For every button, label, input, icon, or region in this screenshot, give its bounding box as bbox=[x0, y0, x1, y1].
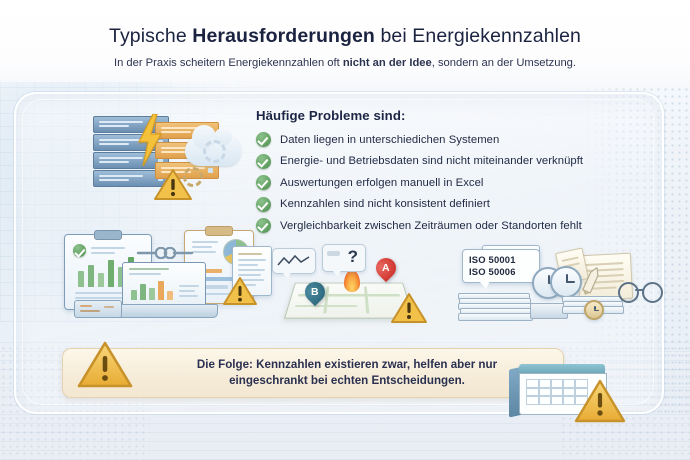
title-emphasis: Herausforderungen bbox=[192, 25, 375, 47]
lightning-bolt-icon bbox=[137, 114, 163, 171]
header: Typische Herausforderungen bei Energieke… bbox=[0, 0, 690, 69]
map-pin-a-label: A bbox=[382, 262, 390, 274]
glasses-icon bbox=[618, 282, 664, 302]
iso-standard-2: ISO 50006 bbox=[469, 266, 533, 278]
subtitle-post: , sondern an der Umsetzung. bbox=[432, 57, 576, 69]
clipboard-clip bbox=[205, 226, 233, 236]
consequence-callout-text: Die Folge: Kennzahlen existieren zwar, h… bbox=[145, 357, 549, 390]
medal-icon bbox=[584, 300, 604, 320]
page-subtitle: In der Praxis scheitern Energiekennzahle… bbox=[0, 57, 690, 69]
list-item: Kennzahlen sind nicht konsistent definie… bbox=[256, 197, 656, 212]
title-pre: Typische bbox=[109, 25, 192, 47]
warning-triangle-icon bbox=[222, 276, 258, 307]
warning-triangle-icon bbox=[153, 168, 193, 202]
iso-standard-1: ISO 50001 bbox=[469, 254, 533, 266]
infographic-canvas: Typische Herausforderungen bei Energieke… bbox=[0, 0, 690, 460]
check-circle-icon bbox=[73, 244, 86, 257]
speech-bubble-question: ? bbox=[322, 244, 366, 272]
map-comparison-illustration: B A ? bbox=[272, 244, 432, 330]
warning-triangle-icon bbox=[390, 292, 428, 325]
iso-callout-card: ISO 50001 ISO 50006 bbox=[462, 249, 540, 283]
chain-link-icon bbox=[134, 246, 196, 258]
list-item-label: Auswertungen erfolgen manuell in Excel bbox=[280, 177, 483, 189]
question-mark-label: ? bbox=[348, 247, 358, 267]
list-item: Auswertungen erfolgen manuell in Excel bbox=[256, 175, 656, 190]
list-item: Energie- und Betriebsdaten sind nicht mi… bbox=[256, 154, 656, 169]
page-title: Typische Herausforderungen bei Energieke… bbox=[0, 25, 690, 48]
list-item-label: Kennzahlen sind nicht konsistent definie… bbox=[280, 198, 490, 210]
problem-list: Häufige Probleme sind: Daten liegen in u… bbox=[256, 108, 656, 240]
subtitle-emphasis: nicht an der Idee bbox=[343, 57, 432, 69]
list-item: Daten liegen in unterschiedichen Systeme… bbox=[256, 132, 656, 147]
laptop-screen bbox=[122, 262, 206, 306]
laptop-base bbox=[112, 304, 218, 318]
clipboard-clip bbox=[94, 230, 122, 240]
clock-icon bbox=[550, 266, 582, 298]
subtitle-pre: In der Praxis scheitern Energiekennzahle… bbox=[114, 57, 343, 69]
speech-bubble-chart bbox=[272, 248, 316, 274]
list-item-label: Energie- und Betriebsdaten sind nicht mi… bbox=[280, 155, 583, 167]
warning-triangle-icon bbox=[573, 378, 627, 424]
title-post: bei Energiekennzahlen bbox=[375, 25, 581, 47]
reporting-tools-illustration bbox=[56, 228, 271, 328]
list-item: Vergleichbarkeit zwischen Zeiträumen ode… bbox=[256, 218, 656, 233]
bubble-placeholder-bar bbox=[327, 251, 340, 256]
list-item-label: Vergleichbarkeit zwischen Zeiträumen ode… bbox=[280, 220, 582, 232]
flame-icon bbox=[344, 270, 360, 292]
list-item-label: Daten liegen in unterschiedichen Systeme… bbox=[280, 134, 499, 146]
phone-icon bbox=[74, 300, 122, 318]
calendar-binding bbox=[519, 364, 605, 373]
problem-list-heading: Häufige Probleme sind: bbox=[256, 108, 656, 123]
consequence-line-1: Die Folge: Kennzahlen existieren zwar, h… bbox=[197, 358, 497, 371]
gear-icon bbox=[203, 140, 226, 163]
map-pin-a: A bbox=[372, 254, 400, 282]
paper-stack-layer bbox=[458, 313, 533, 321]
map-pin-b-label: B bbox=[311, 286, 319, 298]
check-circle-icon bbox=[256, 197, 271, 212]
calendar-illustration bbox=[505, 360, 625, 422]
server-rack-illustration bbox=[85, 112, 255, 207]
check-circle-icon bbox=[256, 132, 271, 147]
warning-triangle-icon bbox=[76, 340, 134, 390]
consequence-line-2: eingeschrankt bei echten Entscheidungen. bbox=[229, 374, 465, 387]
check-circle-icon bbox=[256, 154, 271, 169]
documents-review-illustration bbox=[556, 248, 674, 328]
consequence-callout: Die Folge: Kennzahlen existieren zwar, h… bbox=[62, 348, 564, 398]
check-circle-icon bbox=[256, 175, 271, 190]
